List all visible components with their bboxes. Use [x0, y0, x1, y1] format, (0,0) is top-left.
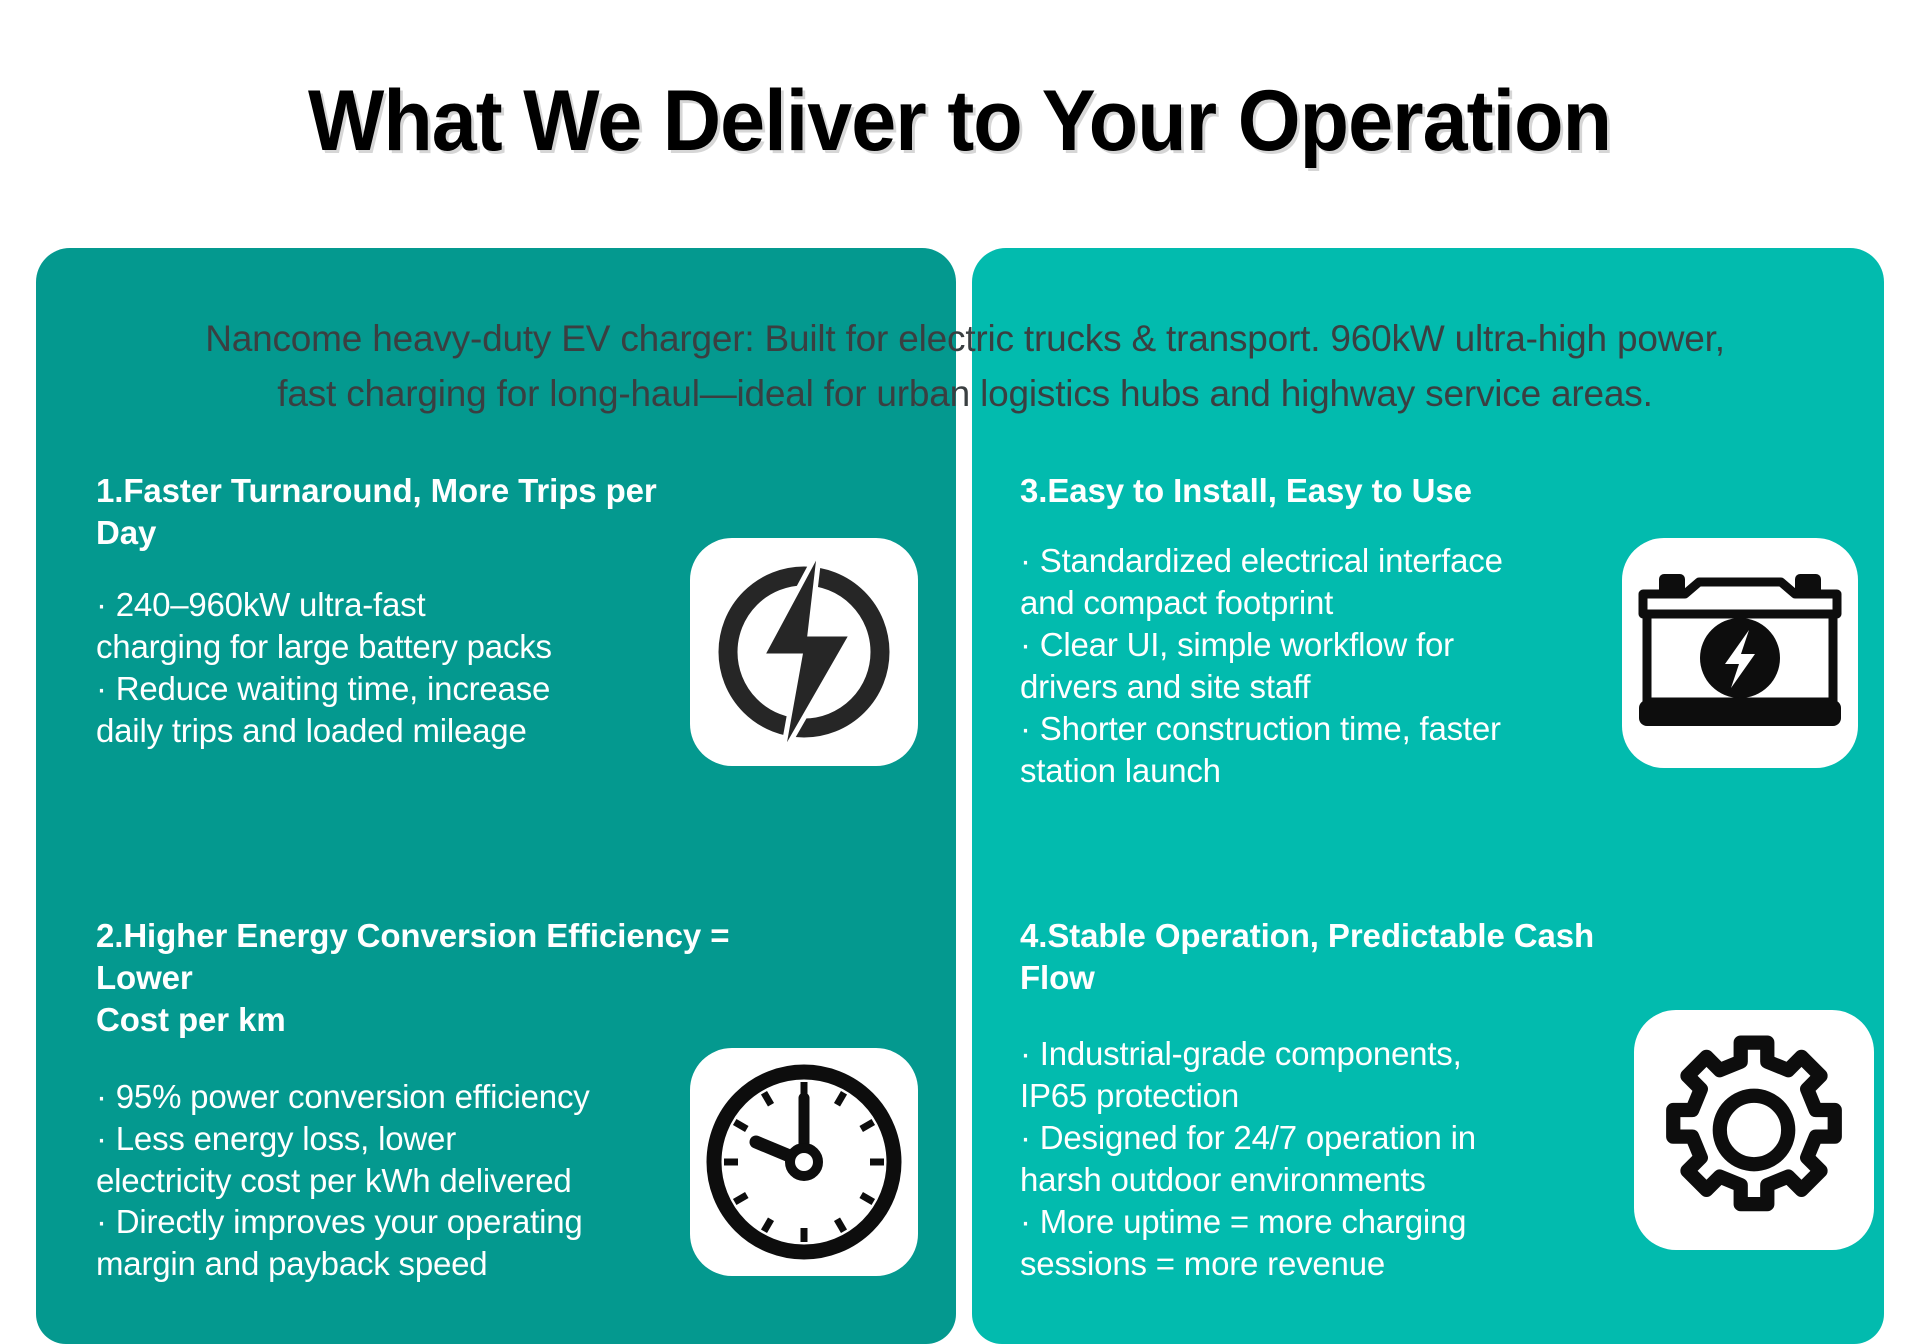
intro-line-1: Nancome heavy-duty EV charger: Built for…	[50, 312, 1880, 367]
list-item: IP65 protection	[1020, 1075, 1640, 1117]
section-2-heading-line-1: 2.Higher Energy Conversion Efficiency = …	[96, 917, 729, 996]
section-3-heading: 3.Easy to Install, Easy to Use	[1020, 470, 1620, 512]
section-higher-efficiency: 2.Higher Energy Conversion Efficiency = …	[96, 915, 756, 1285]
page-title: What We Deliver to Your Operation	[58, 78, 1862, 164]
list-item: margin and payback speed	[96, 1243, 756, 1285]
section-2-body: · 95% power conversion efficiency · Less…	[96, 1076, 756, 1286]
list-item: · Reduce waiting time, increase	[96, 668, 696, 710]
list-item: · More uptime = more charging	[1020, 1201, 1640, 1243]
section-2-heading-line-2: Cost per km	[96, 1001, 286, 1038]
list-item: · Directly improves your operating	[96, 1201, 756, 1243]
section-1-body: · 240–960kW ultra-fast charging for larg…	[96, 584, 696, 752]
section-faster-turnaround: 1.Faster Turnaround, More Trips per Day …	[96, 470, 696, 752]
list-item: · Designed for 24/7 operation in	[1020, 1117, 1640, 1159]
list-item: harsh outdoor environments	[1020, 1159, 1640, 1201]
clock-icon	[702, 1060, 906, 1264]
section-stable-operation: 4.Stable Operation, Predictable Cash Flo…	[1020, 915, 1640, 1285]
list-item: sessions = more revenue	[1020, 1243, 1640, 1285]
intro-line-2: fast charging for long-haul—ideal for ur…	[50, 367, 1880, 422]
section-4-heading: 4.Stable Operation, Predictable Cash Flo…	[1020, 915, 1640, 999]
list-item: station launch	[1020, 750, 1620, 792]
list-item: · 240–960kW ultra-fast	[96, 584, 696, 626]
list-item: · Standardized electrical interface	[1020, 540, 1620, 582]
list-item: and compact footprint	[1020, 582, 1620, 624]
list-item: electricity cost per kWh delivered	[96, 1160, 756, 1202]
gear-icon-tile	[1634, 1010, 1874, 1250]
clock-icon-tile	[690, 1048, 918, 1276]
list-item: · Shorter construction time, faster	[1020, 708, 1620, 750]
lightning-bolt-circle-icon-tile	[690, 538, 918, 766]
section-easy-install: 3.Easy to Install, Easy to Use · Standar…	[1020, 470, 1620, 792]
infographic-poster: What We Deliver to Your Operation Nancom…	[0, 0, 1919, 1344]
list-item: · Industrial-grade components,	[1020, 1033, 1640, 1075]
list-item: drivers and site staff	[1020, 666, 1620, 708]
section-1-heading: 1.Faster Turnaround, More Trips per Day	[96, 470, 696, 554]
gear-icon	[1659, 1035, 1849, 1225]
section-3-body: · Standardized electrical interface and …	[1020, 540, 1620, 791]
section-2-heading: 2.Higher Energy Conversion Efficiency = …	[96, 915, 756, 1042]
list-item: charging for large battery packs	[96, 626, 696, 668]
car-battery-icon-tile	[1622, 538, 1858, 768]
list-item: · 95% power conversion efficiency	[96, 1076, 756, 1118]
car-battery-icon	[1637, 568, 1843, 738]
list-item: · Less energy loss, lower	[96, 1118, 756, 1160]
section-4-body: · Industrial-grade components, IP65 prot…	[1020, 1033, 1640, 1284]
lightning-bolt-circle-icon	[704, 546, 904, 758]
list-item: · Clear UI, simple workflow for	[1020, 624, 1620, 666]
list-item: daily trips and loaded mileage	[96, 710, 696, 752]
intro-paragraph: Nancome heavy-duty EV charger: Built for…	[50, 312, 1880, 422]
